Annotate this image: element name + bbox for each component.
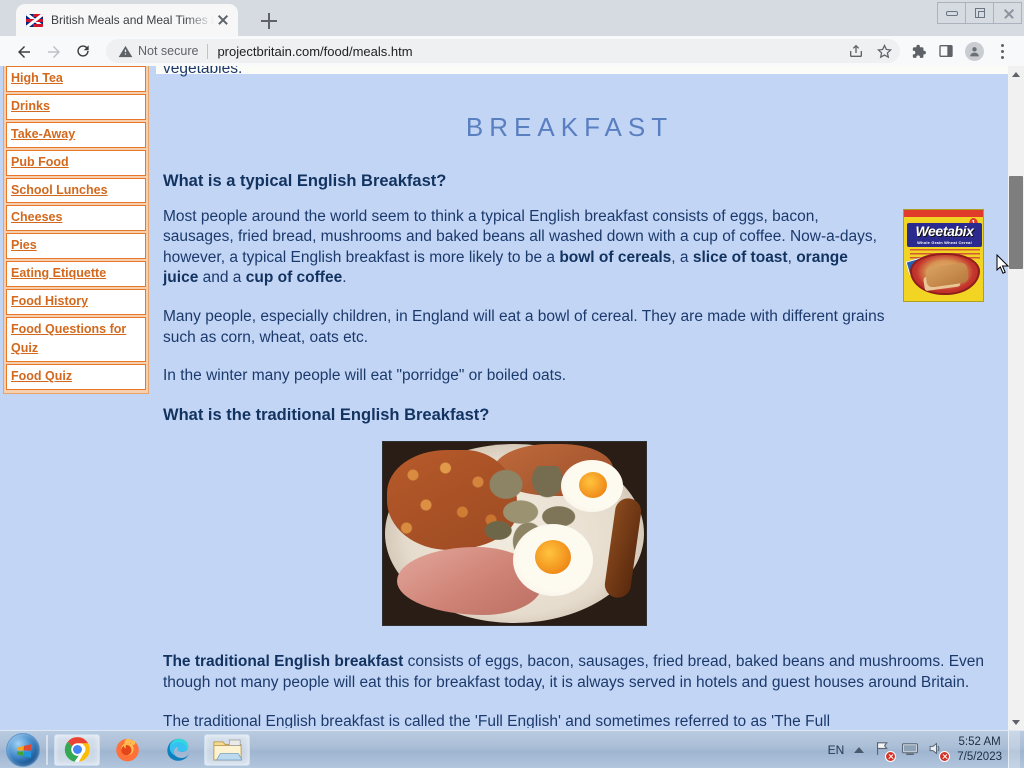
not-secure-icon <box>118 44 133 59</box>
sidebar-item-pies[interactable]: Pies <box>6 233 146 259</box>
paragraph-porridge: In the winter many people will eat "porr… <box>163 366 986 387</box>
sidebar-link[interactable]: Eating Etiquette <box>11 266 106 280</box>
screen: British Meals and Meal Times in E <box>0 0 1024 768</box>
scroll-up-button[interactable] <box>1008 66 1024 82</box>
url-text: projectbritain.com/food/meals.htm <box>217 44 412 59</box>
scroll-down-button[interactable] <box>1008 714 1024 730</box>
paragraph-typical-breakfast: Most people around the world seem to thi… <box>163 207 986 289</box>
sidebar-link[interactable]: Food History <box>11 294 88 308</box>
edge-taskbar-icon[interactable] <box>154 734 200 766</box>
text-bold-traditional: The traditional English breakfast <box>163 653 403 670</box>
sidebar-item-pub-food[interactable]: Pub Food <box>6 150 146 176</box>
tab-title: British Meals and Meal Times in E <box>51 13 214 27</box>
section-heading-traditional: What is the traditional English Breakfas… <box>163 405 986 427</box>
sidebar-item-food-questions-for-quiz[interactable]: Food Questions for Quiz <box>6 317 146 362</box>
paragraph-full-english-cut: The traditional English breakfast is cal… <box>163 712 986 728</box>
side-panel-icon[interactable] <box>932 38 960 64</box>
restore-button[interactable] <box>965 2 994 24</box>
text-bold-cereals: bowl of cereals <box>559 249 671 266</box>
forward-button[interactable] <box>38 36 68 66</box>
sidebar-link[interactable]: Cheeses <box>11 210 62 224</box>
page-scrollbar[interactable] <box>1008 66 1024 730</box>
text-run: . <box>342 269 346 286</box>
taskbar-divider <box>46 735 48 765</box>
arrow-left-icon <box>15 43 31 59</box>
taskbar: EN 5:52 AM <box>0 730 1024 768</box>
brand-tagline: Whole Grain Wheat Cereal <box>917 240 972 245</box>
show-hidden-icons-icon[interactable] <box>854 747 864 753</box>
arrow-right-icon <box>45 43 61 59</box>
bookmark-star-icon[interactable] <box>870 38 898 64</box>
file-explorer-taskbar-icon[interactable] <box>204 734 250 766</box>
sidebar-link[interactable]: Drinks <box>11 99 50 113</box>
profile-avatar[interactable] <box>960 38 988 64</box>
text-run: , a <box>671 249 693 266</box>
close-window-button[interactable] <box>993 2 1022 24</box>
chrome-taskbar-icon[interactable] <box>54 734 100 766</box>
system-tray: EN 5:52 AM <box>828 731 1024 768</box>
three-dots-icon <box>1001 50 1004 53</box>
clipped-paragraph-bottom: The traditional English breakfast is cal… <box>163 712 986 728</box>
tab-active[interactable]: British Meals and Meal Times in E <box>16 4 238 36</box>
page-title: BREAKFAST <box>163 110 986 145</box>
muted-badge-icon <box>939 751 950 762</box>
page-viewport: High Tea Drinks Take-Away Pub Food Schoo… <box>0 66 1024 730</box>
avatar <box>965 42 984 61</box>
sidebar-link[interactable]: Take-Away <box>11 127 75 141</box>
sidebar-item-eating-etiquette[interactable]: Eating Etiquette <box>6 261 146 287</box>
sidebar-item-drinks[interactable]: Drinks <box>6 94 146 120</box>
paragraph-traditional: The traditional English breakfast consis… <box>163 652 986 693</box>
back-button[interactable] <box>8 36 38 66</box>
article-content: vegetables. BREAKFAST What is a typical … <box>157 66 1002 728</box>
chevron-up-icon <box>1012 72 1020 77</box>
clipped-paragraph-top: vegetables. <box>163 66 986 79</box>
omnibox-actions <box>842 38 898 64</box>
clock-time: 5:52 AM <box>957 735 1002 749</box>
text-run: , <box>788 249 797 266</box>
fried-egg-1 <box>561 460 623 512</box>
yolk <box>579 472 607 498</box>
error-badge-icon <box>885 751 896 762</box>
sidebar-link[interactable]: School Lunches <box>11 183 108 197</box>
text-run: and a <box>198 269 245 286</box>
browser-window: British Meals and Meal Times in E <box>0 0 1024 730</box>
sidebar-item-cheeses[interactable]: Cheeses <box>6 205 146 231</box>
fried-egg-2 <box>513 524 593 596</box>
sidebar-link[interactable]: Pub Food <box>11 155 69 169</box>
clock[interactable]: 5:52 AM 7/5/2023 <box>957 735 1002 764</box>
windows-logo-icon <box>16 743 32 759</box>
cereal-bowl-illustration <box>910 253 980 295</box>
sidebar-nav: High Tea Drinks Take-Away Pub Food Schoo… <box>3 66 149 394</box>
firefox-taskbar-icon[interactable] <box>104 734 150 766</box>
window-controls <box>938 2 1022 24</box>
network-icon[interactable] <box>901 740 921 760</box>
sidebar-item-school-lunches[interactable]: School Lunches <box>6 178 146 204</box>
text-bold-coffee: cup of coffee <box>246 269 342 286</box>
security-status-label: Not secure <box>138 44 198 58</box>
scrollbar-thumb[interactable] <box>1009 176 1023 269</box>
web-page: High Tea Drinks Take-Away Pub Food Schoo… <box>0 66 1008 730</box>
start-button[interactable] <box>6 733 40 767</box>
paragraph-cereal: Many people, especially children, in Eng… <box>163 307 986 348</box>
share-icon[interactable] <box>842 38 870 64</box>
sidebar-link[interactable]: Food Questions for Quiz <box>11 322 126 355</box>
weetabix-image: Weetabix Whole Grain Wheat Cereal <box>903 209 984 302</box>
mouse-cursor <box>996 254 1010 275</box>
flag-action-center-icon[interactable] <box>874 740 894 760</box>
browser-menu-icon[interactable] <box>988 38 1016 64</box>
section-heading-typical: What is a typical English Breakfast? <box>163 171 986 193</box>
brand-name: Weetabix <box>915 224 973 238</box>
divider <box>207 44 208 59</box>
sidebar-link[interactable]: Pies <box>11 238 37 252</box>
sidebar-item-take-away[interactable]: Take-Away <box>6 122 146 148</box>
reload-icon <box>75 43 92 60</box>
minimize-button[interactable] <box>937 2 966 24</box>
browser-toolbar: Not secure projectbritain.com/food/meals… <box>0 36 1024 66</box>
text-bold-toast: slice of toast <box>693 249 788 266</box>
language-indicator[interactable]: EN <box>828 743 845 757</box>
show-desktop-button[interactable] <box>1008 731 1020 768</box>
address-bar[interactable]: Not secure projectbritain.com/food/meals… <box>106 39 900 63</box>
tab-strip: British Meals and Meal Times in E <box>0 0 1024 36</box>
full-english-breakfast-photo <box>382 441 647 626</box>
sidebar-item-food-history[interactable]: Food History <box>6 289 146 315</box>
volume-muted-icon[interactable] <box>928 740 948 760</box>
box-top-stripe <box>904 210 983 217</box>
union-jack-icon <box>26 14 43 27</box>
sidebar-item-high-tea[interactable]: High Tea <box>6 66 146 92</box>
close-icon[interactable] <box>214 11 232 29</box>
sidebar-link[interactable]: Food Quiz <box>11 369 72 383</box>
breakfast-photo-container <box>163 441 986 633</box>
sidebar-item-food-quiz[interactable]: Food Quiz <box>6 364 146 390</box>
brand-banner: Weetabix Whole Grain Wheat Cereal <box>907 223 982 247</box>
reload-button[interactable] <box>68 36 98 66</box>
sidebar-link[interactable]: High Tea <box>11 71 63 85</box>
clock-date: 7/5/2023 <box>957 750 1002 764</box>
new-tab-button[interactable] <box>256 8 282 34</box>
chevron-down-icon <box>1012 720 1020 725</box>
extensions-icon[interactable] <box>904 38 932 64</box>
yolk <box>535 540 571 574</box>
